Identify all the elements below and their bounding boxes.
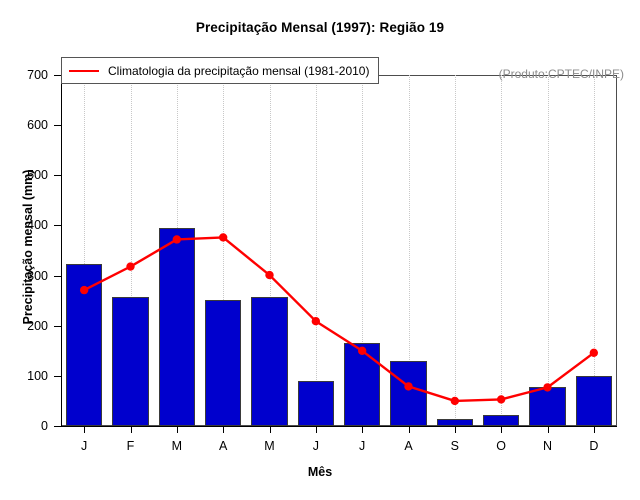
y-tick-mark (54, 276, 61, 277)
y-tick-mark (54, 376, 61, 377)
x-tick-mark (594, 426, 595, 433)
y-tick-label-300: 300 (8, 269, 48, 283)
legend-line-swatch (69, 70, 99, 72)
x-tick-label-M-4: M (250, 439, 290, 453)
climatology-point-S-8 (451, 397, 459, 405)
climatology-point-O-9 (497, 395, 505, 403)
climatology-point-A-3 (219, 233, 227, 241)
x-axis-title: Mês (0, 465, 640, 479)
x-tick-mark (131, 426, 132, 433)
climatology-point-M-2 (173, 235, 181, 243)
x-tick-label-A-3: A (203, 439, 243, 453)
x-tick-mark (548, 426, 549, 433)
x-tick-label-M-2: M (157, 439, 197, 453)
x-tick-mark (177, 426, 178, 433)
x-tick-label-J-0: J (64, 439, 104, 453)
chart-title: Precipitação Mensal (1997): Região 19 (0, 20, 640, 35)
x-tick-label-S-8: S (435, 439, 475, 453)
x-tick-label-J-5: J (296, 439, 336, 453)
x-tick-mark (270, 426, 271, 433)
x-tick-mark (316, 426, 317, 433)
climatology-line-series (61, 75, 617, 426)
x-tick-mark (501, 426, 502, 433)
x-tick-mark (409, 426, 410, 433)
climatology-point-F-1 (126, 262, 134, 270)
climatology-point-A-7 (404, 382, 412, 390)
plot-area (61, 75, 617, 426)
x-tick-mark (362, 426, 363, 433)
product-annotation: (Produto:CPTEC/INPE) (499, 67, 624, 81)
x-tick-mark (455, 426, 456, 433)
y-tick-mark (54, 75, 61, 76)
climatology-point-J-6 (358, 347, 366, 355)
y-tick-label-100: 100 (8, 369, 48, 383)
x-tick-label-N-10: N (528, 439, 568, 453)
climatology-point-J-5 (312, 317, 320, 325)
y-tick-mark (54, 125, 61, 126)
x-tick-mark (223, 426, 224, 433)
y-tick-mark (54, 326, 61, 327)
y-axis-line (61, 75, 62, 426)
y-tick-mark (54, 426, 61, 427)
legend: Climatologia da precipitação mensal (198… (61, 57, 379, 84)
climatology-point-D-11 (590, 349, 598, 357)
climatology-point-M-4 (265, 271, 273, 279)
climatology-polyline (84, 237, 594, 400)
x-tick-label-O-9: O (481, 439, 521, 453)
legend-label: Climatologia da precipitação mensal (198… (108, 64, 369, 78)
x-tick-mark (84, 426, 85, 433)
climatology-point-N-10 (543, 383, 551, 391)
climatology-markers (80, 233, 598, 405)
x-tick-label-J-6: J (342, 439, 382, 453)
x-axis-line (61, 426, 617, 427)
y-tick-label-200: 200 (8, 319, 48, 333)
y-tick-mark (54, 225, 61, 226)
x-tick-label-F-1: F (111, 439, 151, 453)
y-tick-label-400: 400 (8, 218, 48, 232)
y-tick-mark (54, 175, 61, 176)
x-tick-label-A-7: A (389, 439, 429, 453)
climatology-point-J-0 (80, 286, 88, 294)
y-tick-label-0: 0 (8, 419, 48, 433)
y-tick-label-500: 500 (8, 168, 48, 182)
y-tick-label-700: 700 (8, 68, 48, 82)
precipitation-chart-figure: Precipitação Mensal (1997): Região 19 Pr… (0, 0, 640, 500)
y-tick-label-600: 600 (8, 118, 48, 132)
x-tick-label-D-11: D (574, 439, 614, 453)
